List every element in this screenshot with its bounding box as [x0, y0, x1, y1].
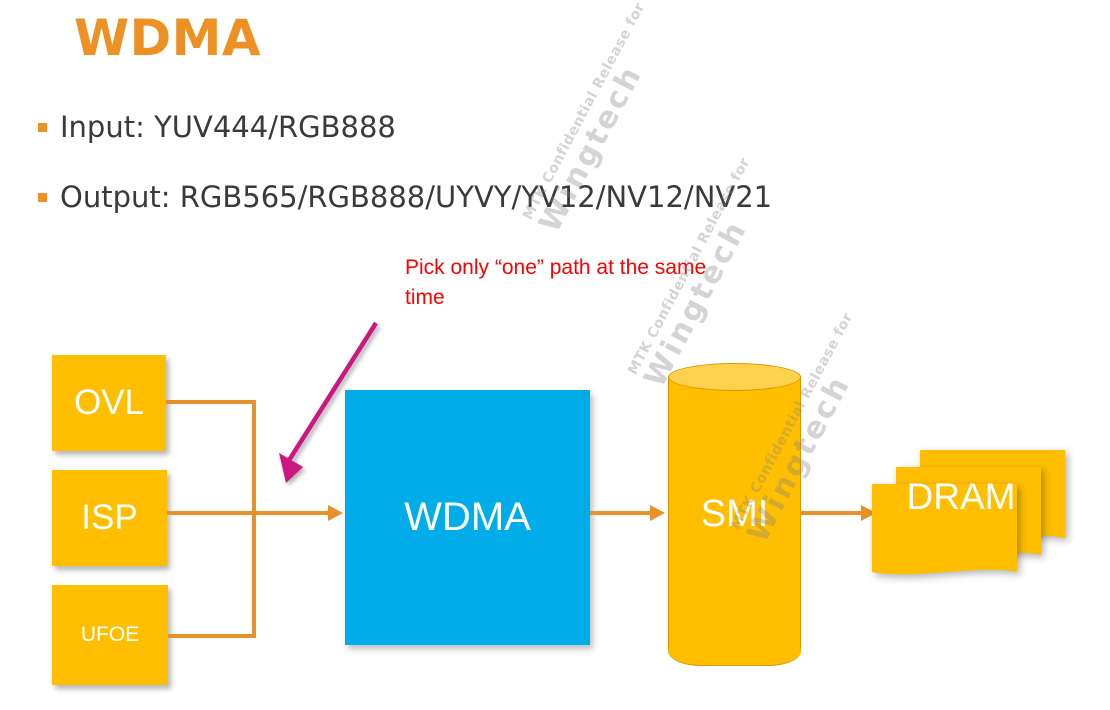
block-dram: DRAM	[872, 450, 1090, 602]
block-label: DRAM	[896, 470, 1026, 524]
block-isp: ISP	[52, 470, 167, 566]
square-bullet-icon	[38, 123, 47, 132]
block-label: ISP	[81, 498, 137, 538]
block-ovl: OVL	[52, 355, 166, 451]
bullet-label: Input: YUV444/RGB888	[60, 112, 396, 144]
connector-ufoe-to-bus	[168, 634, 256, 638]
annotation-text: Pick only “one” path at the same time	[405, 253, 715, 313]
block-smi: SMI	[668, 363, 801, 666]
slide-canvas: WDMA Input: YUV444/RGB888 Output: RGB565…	[0, 0, 1110, 710]
callout-arrow-magenta	[255, 315, 390, 495]
page-title: WDMA	[74, 10, 261, 68]
connector-wdma-to-smi	[590, 511, 652, 515]
bullet-item-output: Output: RGB565/RGB888/UYVY/YV12/NV12/NV2…	[38, 182, 772, 214]
connector-smi-to-dram	[801, 511, 863, 515]
arrowhead-icon	[650, 505, 665, 521]
block-label: UFOE	[81, 623, 139, 647]
block-label: SMI	[668, 363, 801, 666]
square-bullet-icon	[38, 193, 47, 202]
bullet-label: Output: RGB565/RGB888/UYVY/YV12/NV12/NV2…	[60, 182, 772, 214]
connector-isp-to-bus	[167, 511, 256, 515]
block-ufoe: UFOE	[52, 585, 168, 685]
connector-ovl-to-bus	[166, 400, 256, 404]
connector-bus-to-wdma	[252, 511, 330, 515]
block-label: WDMA	[404, 495, 531, 540]
arrowhead-icon	[328, 505, 343, 521]
bullet-item-input: Input: YUV444/RGB888	[38, 112, 396, 144]
block-label: OVL	[74, 383, 144, 423]
